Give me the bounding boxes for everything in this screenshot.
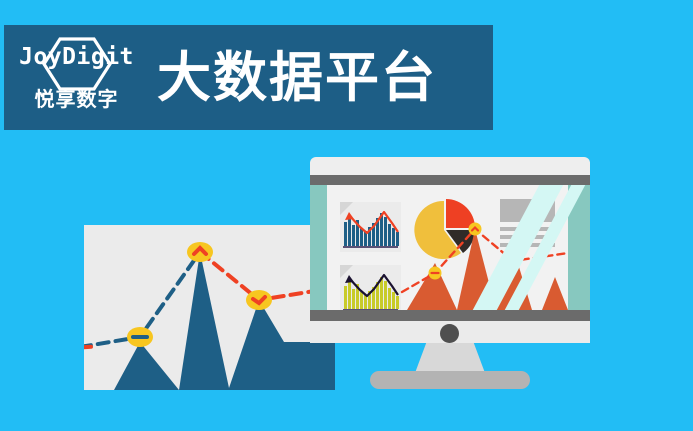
logo-wordmark: JoyDigit bbox=[14, 46, 139, 69]
monitor-power-button[interactable] bbox=[440, 324, 459, 343]
monitor-stand-neck bbox=[415, 343, 485, 373]
monitor-bottom-bezel-bar bbox=[310, 310, 590, 321]
monitor-stand-base bbox=[370, 371, 530, 389]
logo-subtitle: 悦享数字 bbox=[14, 90, 139, 110]
mountain-shape bbox=[84, 252, 335, 390]
chart-node bbox=[187, 242, 213, 262]
brand-logo[interactable]: JoyDigit 悦享数字 bbox=[14, 33, 139, 123]
illustration-stage: JoyDigit 悦享数字 大数据平台 bbox=[0, 0, 693, 431]
left-mountain-chart-panel bbox=[84, 225, 335, 390]
screen-left-band bbox=[310, 185, 327, 310]
monitor bbox=[310, 157, 590, 389]
trend-dash-red-start bbox=[84, 347, 91, 348]
left-mountain-chart-svg bbox=[84, 225, 335, 390]
chart-node bbox=[246, 290, 272, 310]
monitor-top-bezel-bar bbox=[310, 175, 590, 185]
monitor-screen bbox=[310, 185, 590, 310]
header-banner: JoyDigit 悦享数字 大数据平台 bbox=[4, 25, 493, 130]
page-title: 大数据平台 bbox=[157, 51, 437, 105]
